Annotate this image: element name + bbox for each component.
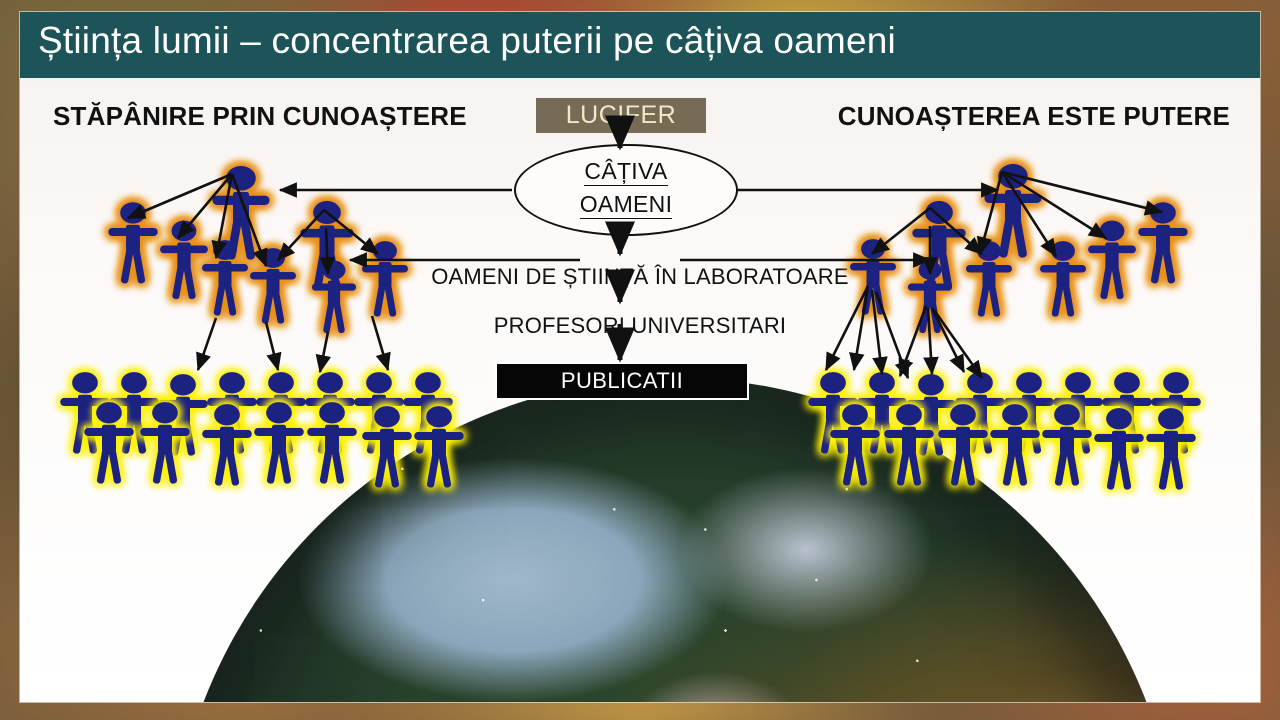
slide-content-plate: STĂPÂNIRE PRIN CUNOAȘTERE CUNOAȘTEREA ES… (20, 78, 1260, 702)
slide-card: Știința lumii – concentrarea puterii pe … (20, 12, 1260, 702)
slide-stage: Știința lumii – concentrarea puterii pe … (0, 0, 1280, 720)
figure-group-right-orange (850, 164, 1188, 334)
figure-group-left-orange (108, 166, 408, 334)
stick-figure-layer (20, 78, 1260, 702)
slide-title: Știința lumii – concentrarea puterii pe … (38, 20, 896, 62)
slide-title-bar: Știința lumii – concentrarea puterii pe … (20, 12, 1260, 78)
